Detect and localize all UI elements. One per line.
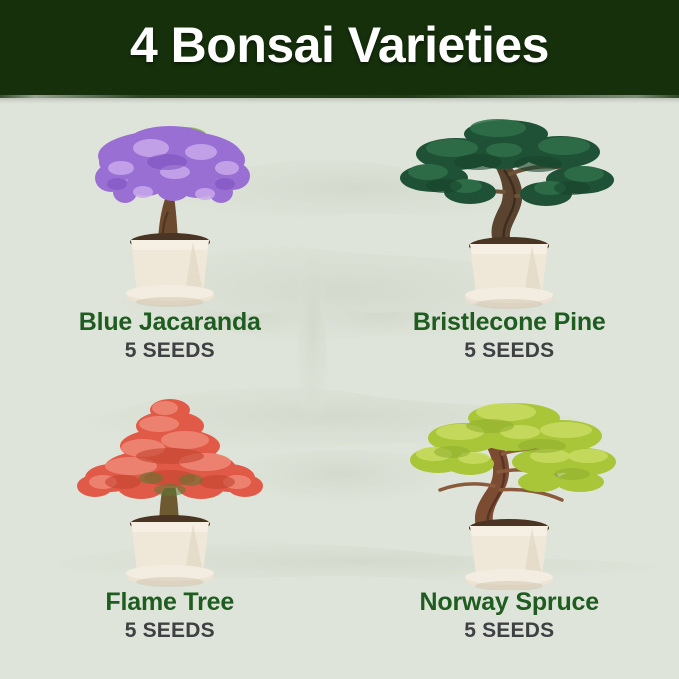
variety-label: Blue Jacaranda 5 SEEDS xyxy=(79,308,261,363)
bristlecone-pine-bonsai-icon xyxy=(394,100,624,310)
variety-card-blue-jacaranda: Blue Jacaranda 5 SEEDS xyxy=(0,100,340,390)
variety-seed-count: 5 SEEDS xyxy=(105,618,234,643)
variety-label: Bristlecone Pine 5 SEEDS xyxy=(413,308,606,363)
flame-tree-bonsai-icon xyxy=(55,390,285,590)
variety-seed-count: 5 SEEDS xyxy=(413,338,606,363)
variety-grid: Blue Jacaranda 5 SEEDS xyxy=(0,100,679,679)
variety-name: Bristlecone Pine xyxy=(413,308,606,337)
variety-seed-count: 5 SEEDS xyxy=(79,338,261,363)
header-banner: 4 Bonsai Varieties xyxy=(0,0,679,98)
variety-label: Flame Tree 5 SEEDS xyxy=(105,588,234,643)
page-title: 4 Bonsai Varieties xyxy=(0,16,679,74)
jacaranda-bonsai-icon xyxy=(55,100,285,310)
variety-name: Flame Tree xyxy=(105,588,234,617)
variety-name: Norway Spruce xyxy=(420,588,599,617)
variety-card-bristlecone-pine: Bristlecone Pine 5 SEEDS xyxy=(340,100,679,390)
variety-card-norway-spruce: Norway Spruce 5 SEEDS xyxy=(340,390,679,679)
product-image: 4 Bonsai Varieties xyxy=(0,0,679,679)
variety-label: Norway Spruce 5 SEEDS xyxy=(420,588,599,643)
variety-seed-count: 5 SEEDS xyxy=(420,618,599,643)
norway-spruce-bonsai-icon xyxy=(394,390,624,590)
variety-name: Blue Jacaranda xyxy=(79,308,261,337)
variety-card-flame-tree: Flame Tree 5 SEEDS xyxy=(0,390,340,679)
